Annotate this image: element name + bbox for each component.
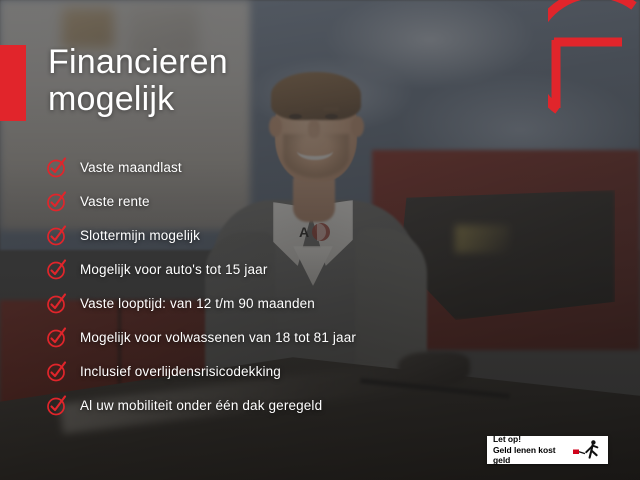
list-item: Mogelijk voor volwassenen van 18 tot 81 … <box>46 327 356 348</box>
list-item: Inclusief overlijdensrisicodekking <box>46 361 356 382</box>
warning-text: Let op! Geld lenen kost geld <box>493 434 572 467</box>
list-item: Vaste rente <box>46 191 356 212</box>
check-circle-icon <box>46 395 67 416</box>
list-item-label: Inclusief overlijdensrisicodekking <box>80 364 281 379</box>
status-badge: Let op! Geld lenen kost geld <box>487 436 608 464</box>
list-item: Al uw mobiliteit onder één dak geregeld <box>46 395 356 416</box>
red-accent-block <box>0 45 26 121</box>
list-item-label: Mogelijk voor auto's tot 15 jaar <box>80 262 267 277</box>
list-item-label: Mogelijk voor volwassenen van 18 tot 81 … <box>80 330 356 345</box>
check-circle-icon <box>46 259 67 280</box>
list-item-label: Vaste rente <box>80 194 150 209</box>
walking-person-pulling-weight-icon <box>572 439 602 461</box>
list-item-label: Slottermijn mogelijk <box>80 228 200 243</box>
list-item-label: Vaste maandlast <box>80 160 182 175</box>
check-circle-icon <box>46 293 67 314</box>
check-circle-icon <box>46 327 67 348</box>
red-arc-arrow-mark <box>548 0 640 122</box>
feature-list: Vaste maandlast Vaste rente Slottermijn … <box>46 157 356 416</box>
list-item: Vaste maandlast <box>46 157 356 178</box>
check-circle-icon <box>46 361 67 382</box>
check-circle-icon <box>46 157 67 178</box>
list-item-label: Vaste looptijd: van 12 t/m 90 maanden <box>80 296 315 311</box>
check-circle-icon <box>46 225 67 246</box>
list-item: Slottermijn mogelijk <box>46 225 356 246</box>
check-circle-icon <box>46 191 67 212</box>
list-item-label: Al uw mobiliteit onder één dak geregeld <box>80 398 322 413</box>
page-title: Financieren mogelijk <box>48 44 228 119</box>
promo-banner-image: A Financieren mogelijk <box>0 0 640 480</box>
list-item: Mogelijk voor auto's tot 15 jaar <box>46 259 356 280</box>
list-item: Vaste looptijd: van 12 t/m 90 maanden <box>46 293 356 314</box>
